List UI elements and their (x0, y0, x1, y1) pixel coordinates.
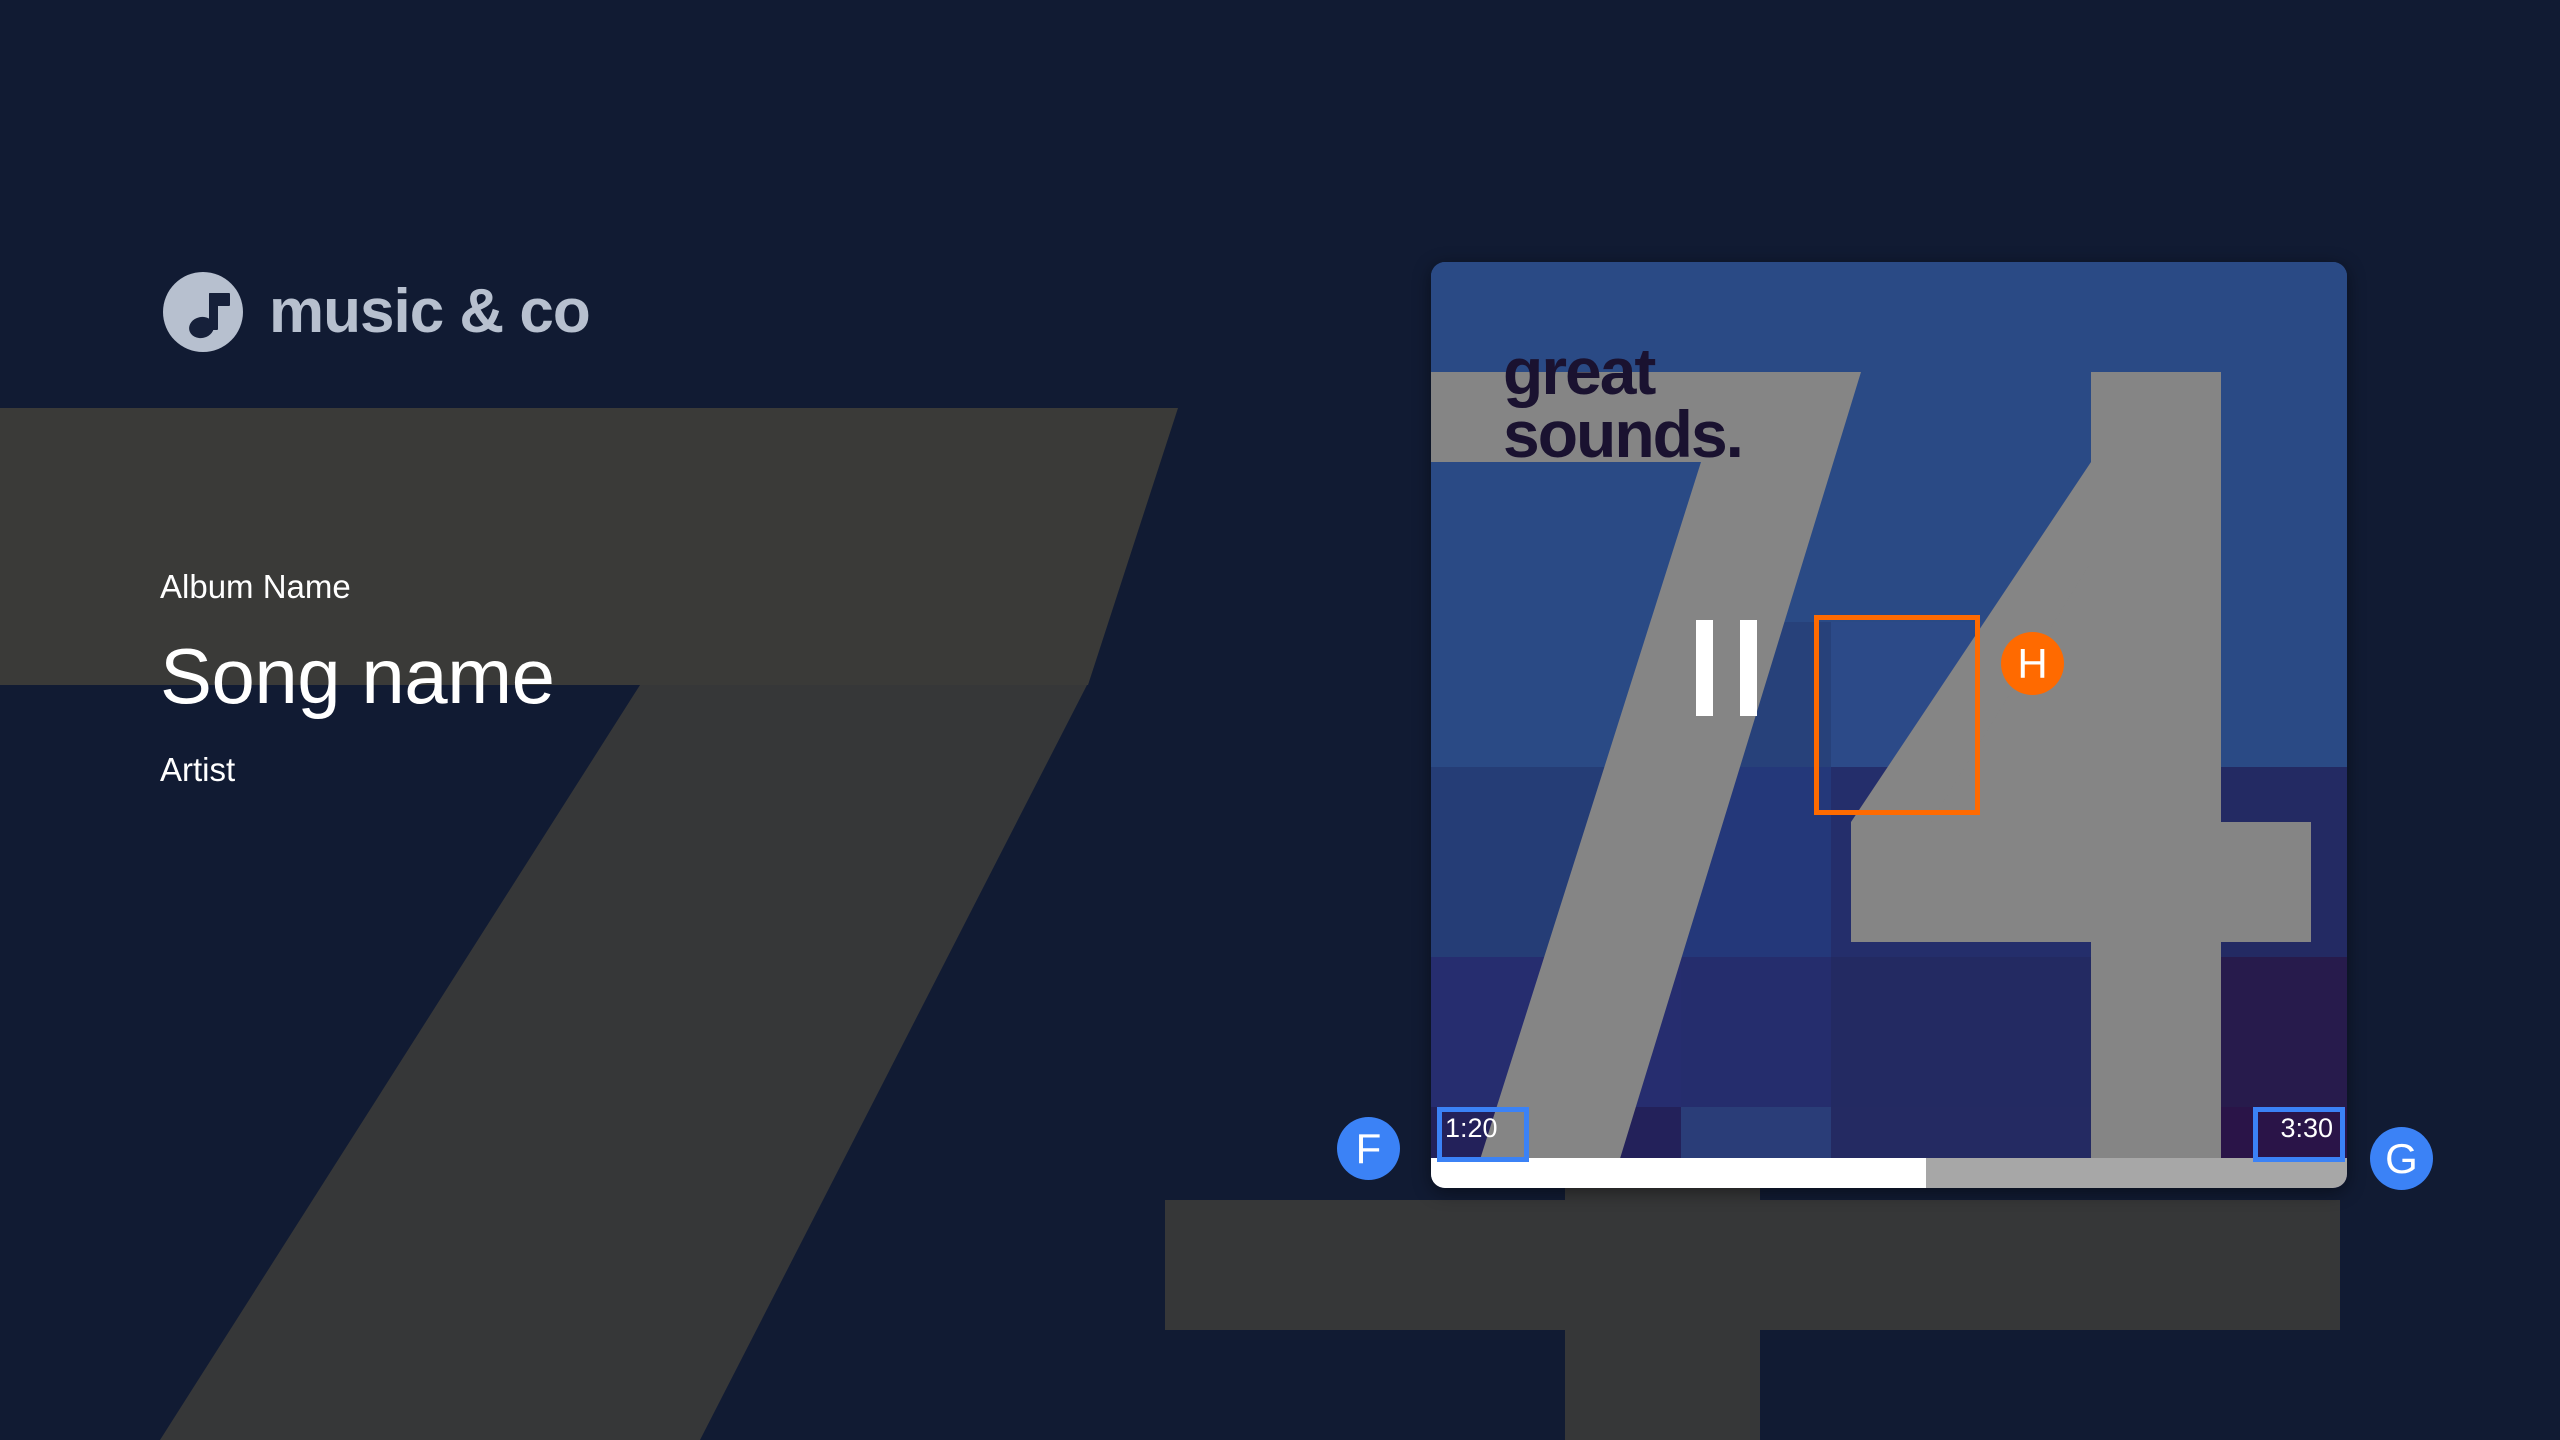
artist-name: Artist (160, 753, 554, 786)
app-screen: music & co Album Name Song name Artist g… (0, 0, 2560, 1440)
annotation-box-current-time (1437, 1107, 1529, 1162)
annotation-badge-f-label: F (1356, 1128, 1382, 1170)
album-art-block (1431, 622, 1681, 767)
pause-button[interactable] (1683, 607, 1769, 729)
annotation-badge-g-label: G (2385, 1138, 2418, 1180)
brand-name: music & co (269, 281, 590, 343)
album-art-block (2131, 622, 2347, 767)
album-art-block (1431, 957, 1681, 1107)
annotation-badge-g: G (2370, 1127, 2433, 1190)
album-art-block (1831, 957, 2131, 1107)
annotation-badge-h-label: H (2017, 643, 2047, 685)
progress-bar-fill (1431, 1158, 1926, 1188)
annotation-box-pause (1814, 615, 1980, 815)
song-title: Song name (160, 637, 554, 715)
pause-icon-bar-right (1740, 620, 1757, 716)
annotation-badge-h: H (2001, 632, 2064, 695)
album-art-block (1431, 767, 1681, 957)
pause-icon-bar-left (1696, 620, 1713, 716)
album-name: Album Name (160, 570, 554, 603)
annotation-badge-f: F (1337, 1117, 1400, 1180)
track-metadata: Album Name Song name Artist (160, 570, 554, 786)
album-art-block (1681, 767, 1831, 957)
annotation-box-total-time (2253, 1107, 2345, 1162)
album-art-title-line2: sounds. (1503, 397, 1742, 471)
brand-logo-group[interactable]: music & co (163, 272, 590, 352)
album-art-block (2131, 767, 2347, 957)
album-art-block (1681, 957, 1831, 1107)
album-art-block (2131, 957, 2347, 1107)
album-art-title: great sounds. (1503, 340, 1742, 467)
progress-bar[interactable] (1431, 1158, 2347, 1188)
music-note-icon (163, 272, 243, 352)
